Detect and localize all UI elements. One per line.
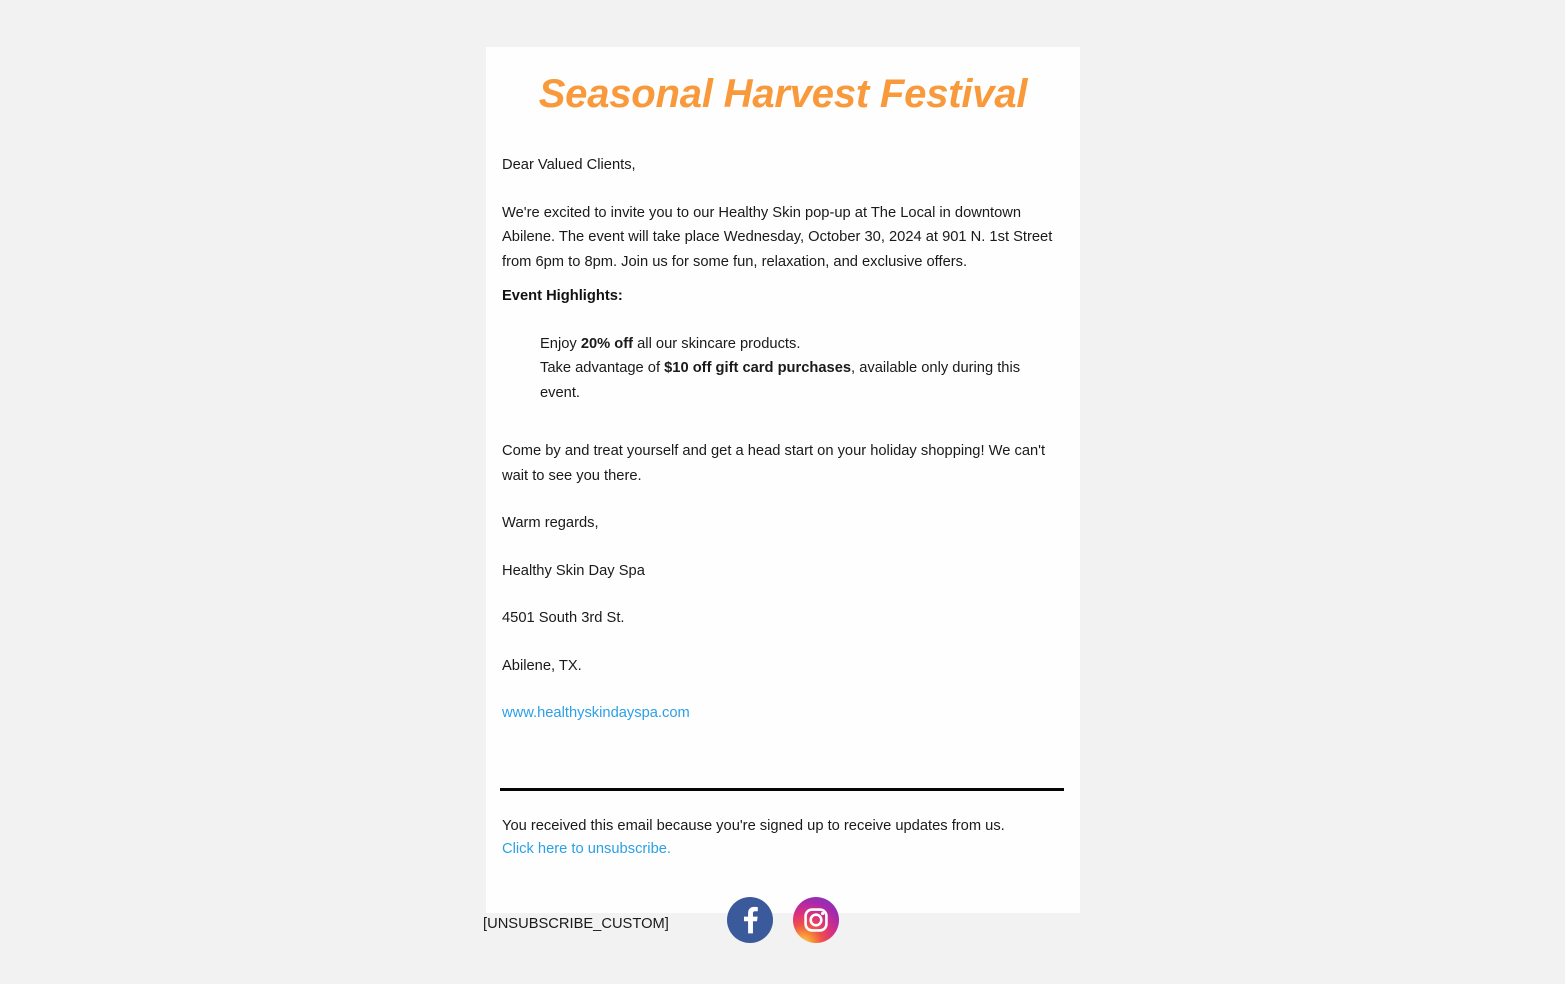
spacer	[502, 274, 1064, 284]
email-preview-page: Seasonal Harvest Festival Dear Valued Cl…	[0, 0, 1565, 984]
unsubscribe-link[interactable]: Click here to unsubscribe.	[502, 837, 1064, 862]
list-item: Take advantage of $10 off gift card purc…	[540, 356, 1064, 405]
spacer	[502, 405, 1064, 439]
email-title: Seasonal Harvest Festival	[486, 47, 1080, 119]
signature-address-line-2: Abilene, TX.	[502, 654, 1064, 679]
spacer	[502, 488, 1064, 511]
unsubscribe-custom-token: [UNSUBSCRIBE_CUSTOM]	[483, 912, 669, 936]
email-card: Seasonal Harvest Festival Dear Valued Cl…	[486, 47, 1080, 913]
spacer	[502, 309, 1064, 332]
highlight-emphasis: $10 off gift card purchases	[664, 360, 851, 376]
list-item: Enjoy 20% off all our skincare products.	[540, 332, 1064, 357]
email-body: Dear Valued Clients, We're excited to in…	[486, 119, 1080, 788]
event-highlights-list: Enjoy 20% off all our skincare products.…	[502, 332, 1064, 406]
spacer	[502, 631, 1064, 654]
highlight-prefix: Take advantage of	[540, 360, 664, 376]
email-footer: You received this email because you're s…	[486, 791, 1080, 862]
spacer	[502, 178, 1064, 201]
spacer	[502, 119, 1064, 153]
event-highlights-heading: Event Highlights:	[502, 284, 1064, 309]
spacer	[502, 678, 1064, 701]
closing-paragraph: Come by and treat yourself and get a hea…	[502, 439, 1064, 488]
spacer	[502, 726, 1064, 788]
greeting-text: Dear Valued Clients,	[502, 153, 1064, 178]
intro-paragraph: We're excited to invite you to our Healt…	[502, 201, 1064, 275]
facebook-icon[interactable]	[727, 897, 773, 943]
spacer	[502, 536, 1064, 559]
highlight-prefix: Enjoy	[540, 336, 581, 352]
signature-address-line-1: 4501 South 3rd St.	[502, 606, 1064, 631]
signature-salutation: Warm regards,	[502, 511, 1064, 536]
footer-note-text: You received this email because you're s…	[502, 818, 1005, 834]
signature-website-row: www.healthyskindayspa.com	[502, 701, 1064, 726]
instagram-icon[interactable]	[793, 897, 839, 943]
website-link[interactable]: www.healthyskindayspa.com	[502, 705, 690, 721]
signature-company: Healthy Skin Day Spa	[502, 559, 1064, 584]
highlight-emphasis: 20% off	[581, 336, 633, 352]
spacer	[502, 583, 1064, 606]
highlight-suffix: all our skincare products.	[633, 336, 800, 352]
